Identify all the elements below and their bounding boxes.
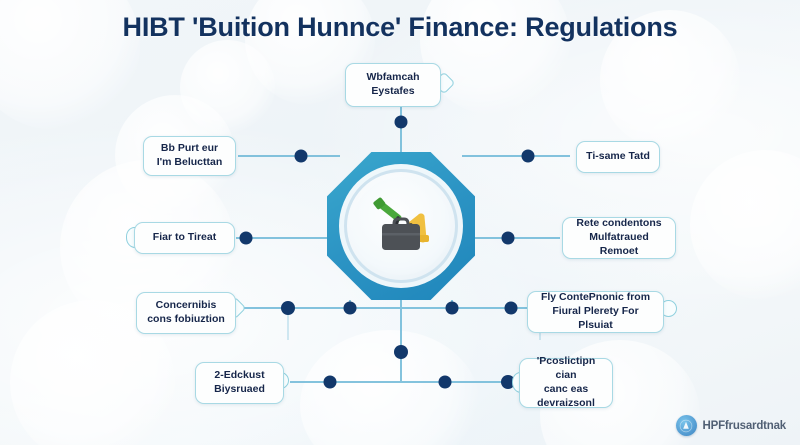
junction-dot [324,376,337,389]
infographic-canvas: HIBT 'Buition Hunnce' Finance: Regulatio… [0,0,800,445]
junction-dot [295,150,308,163]
node-left-4[interactable]: 2-Edckust Biysruaed [195,362,284,404]
hub-core [352,177,450,275]
junction-dot [281,301,295,315]
junction-dot [522,150,535,163]
watermark-label: HPFfrusardtnak [703,420,786,432]
node-right-4-line2: canc eas [527,383,605,397]
node-left-4-line2: Biysruaed [203,383,276,397]
junction-dot [395,116,408,129]
node-right-2[interactable]: Rete condentons Mulfatraued Remoet [562,217,676,259]
node-top-line2: Eystafes [353,85,433,99]
node-left-2-line1: Fiar to Tireat [142,231,227,245]
junction-dot [240,232,253,245]
node-left-4-line1: 2-Edckust [203,369,276,383]
junction-dot [439,376,452,389]
node-left-3-line2: cons fobiuztion [144,313,228,327]
node-right-1[interactable]: Ti-same Tatd [576,141,660,173]
node-right-2-line2: Mulfatraued Remoet [570,231,668,259]
circular-badge-logo-icon [676,415,697,436]
node-right-1-line1: Ti-same Tatd [584,150,652,164]
node-right-3-line1: Fly ContePnonic from [535,291,656,305]
watermark: HPFfrusardtnak [676,415,786,436]
junction-dot [505,302,518,315]
node-top[interactable]: Wbfamcah Eystafes [345,63,441,107]
node-right-4-line3: devraizsonl [527,397,605,411]
briefcase-with-robotic-arms-icon [365,195,437,257]
page-title: HIBT 'Buition Hunnce' Finance: Regulatio… [0,12,800,43]
node-left-1[interactable]: Bb Purt eur I'm Belucttan [143,136,236,176]
junction-dot [344,302,357,315]
junction-dot [502,232,515,245]
node-left-3-line1: Concernibis [144,299,228,313]
central-hub[interactable] [327,152,475,300]
node-left-2[interactable]: Fiar to Tireat [134,222,235,254]
node-right-3-line2: Fiural Plerety For Plsuiat [535,305,656,333]
node-right-3[interactable]: Fly ContePnonic from Fiural Plerety For … [527,291,664,333]
node-right-2-line1: Rete condentons [570,217,668,231]
page-title-bar: HIBT 'Buition Hunnce' Finance: Regulatio… [0,12,800,43]
junction-dot [394,345,408,359]
node-right-4[interactable]: 'Pcoslictipn cian canc eas devraizsonl [519,358,613,408]
node-left-1-line2: I'm Belucttan [151,156,228,170]
node-top-line1: Wbfamcah [353,71,433,85]
node-right-4-line1: 'Pcoslictipn cian [527,355,605,383]
node-left-3[interactable]: Concernibis cons fobiuztion [136,292,236,334]
junction-dot [446,302,459,315]
node-left-1-line1: Bb Purt eur [151,142,228,156]
